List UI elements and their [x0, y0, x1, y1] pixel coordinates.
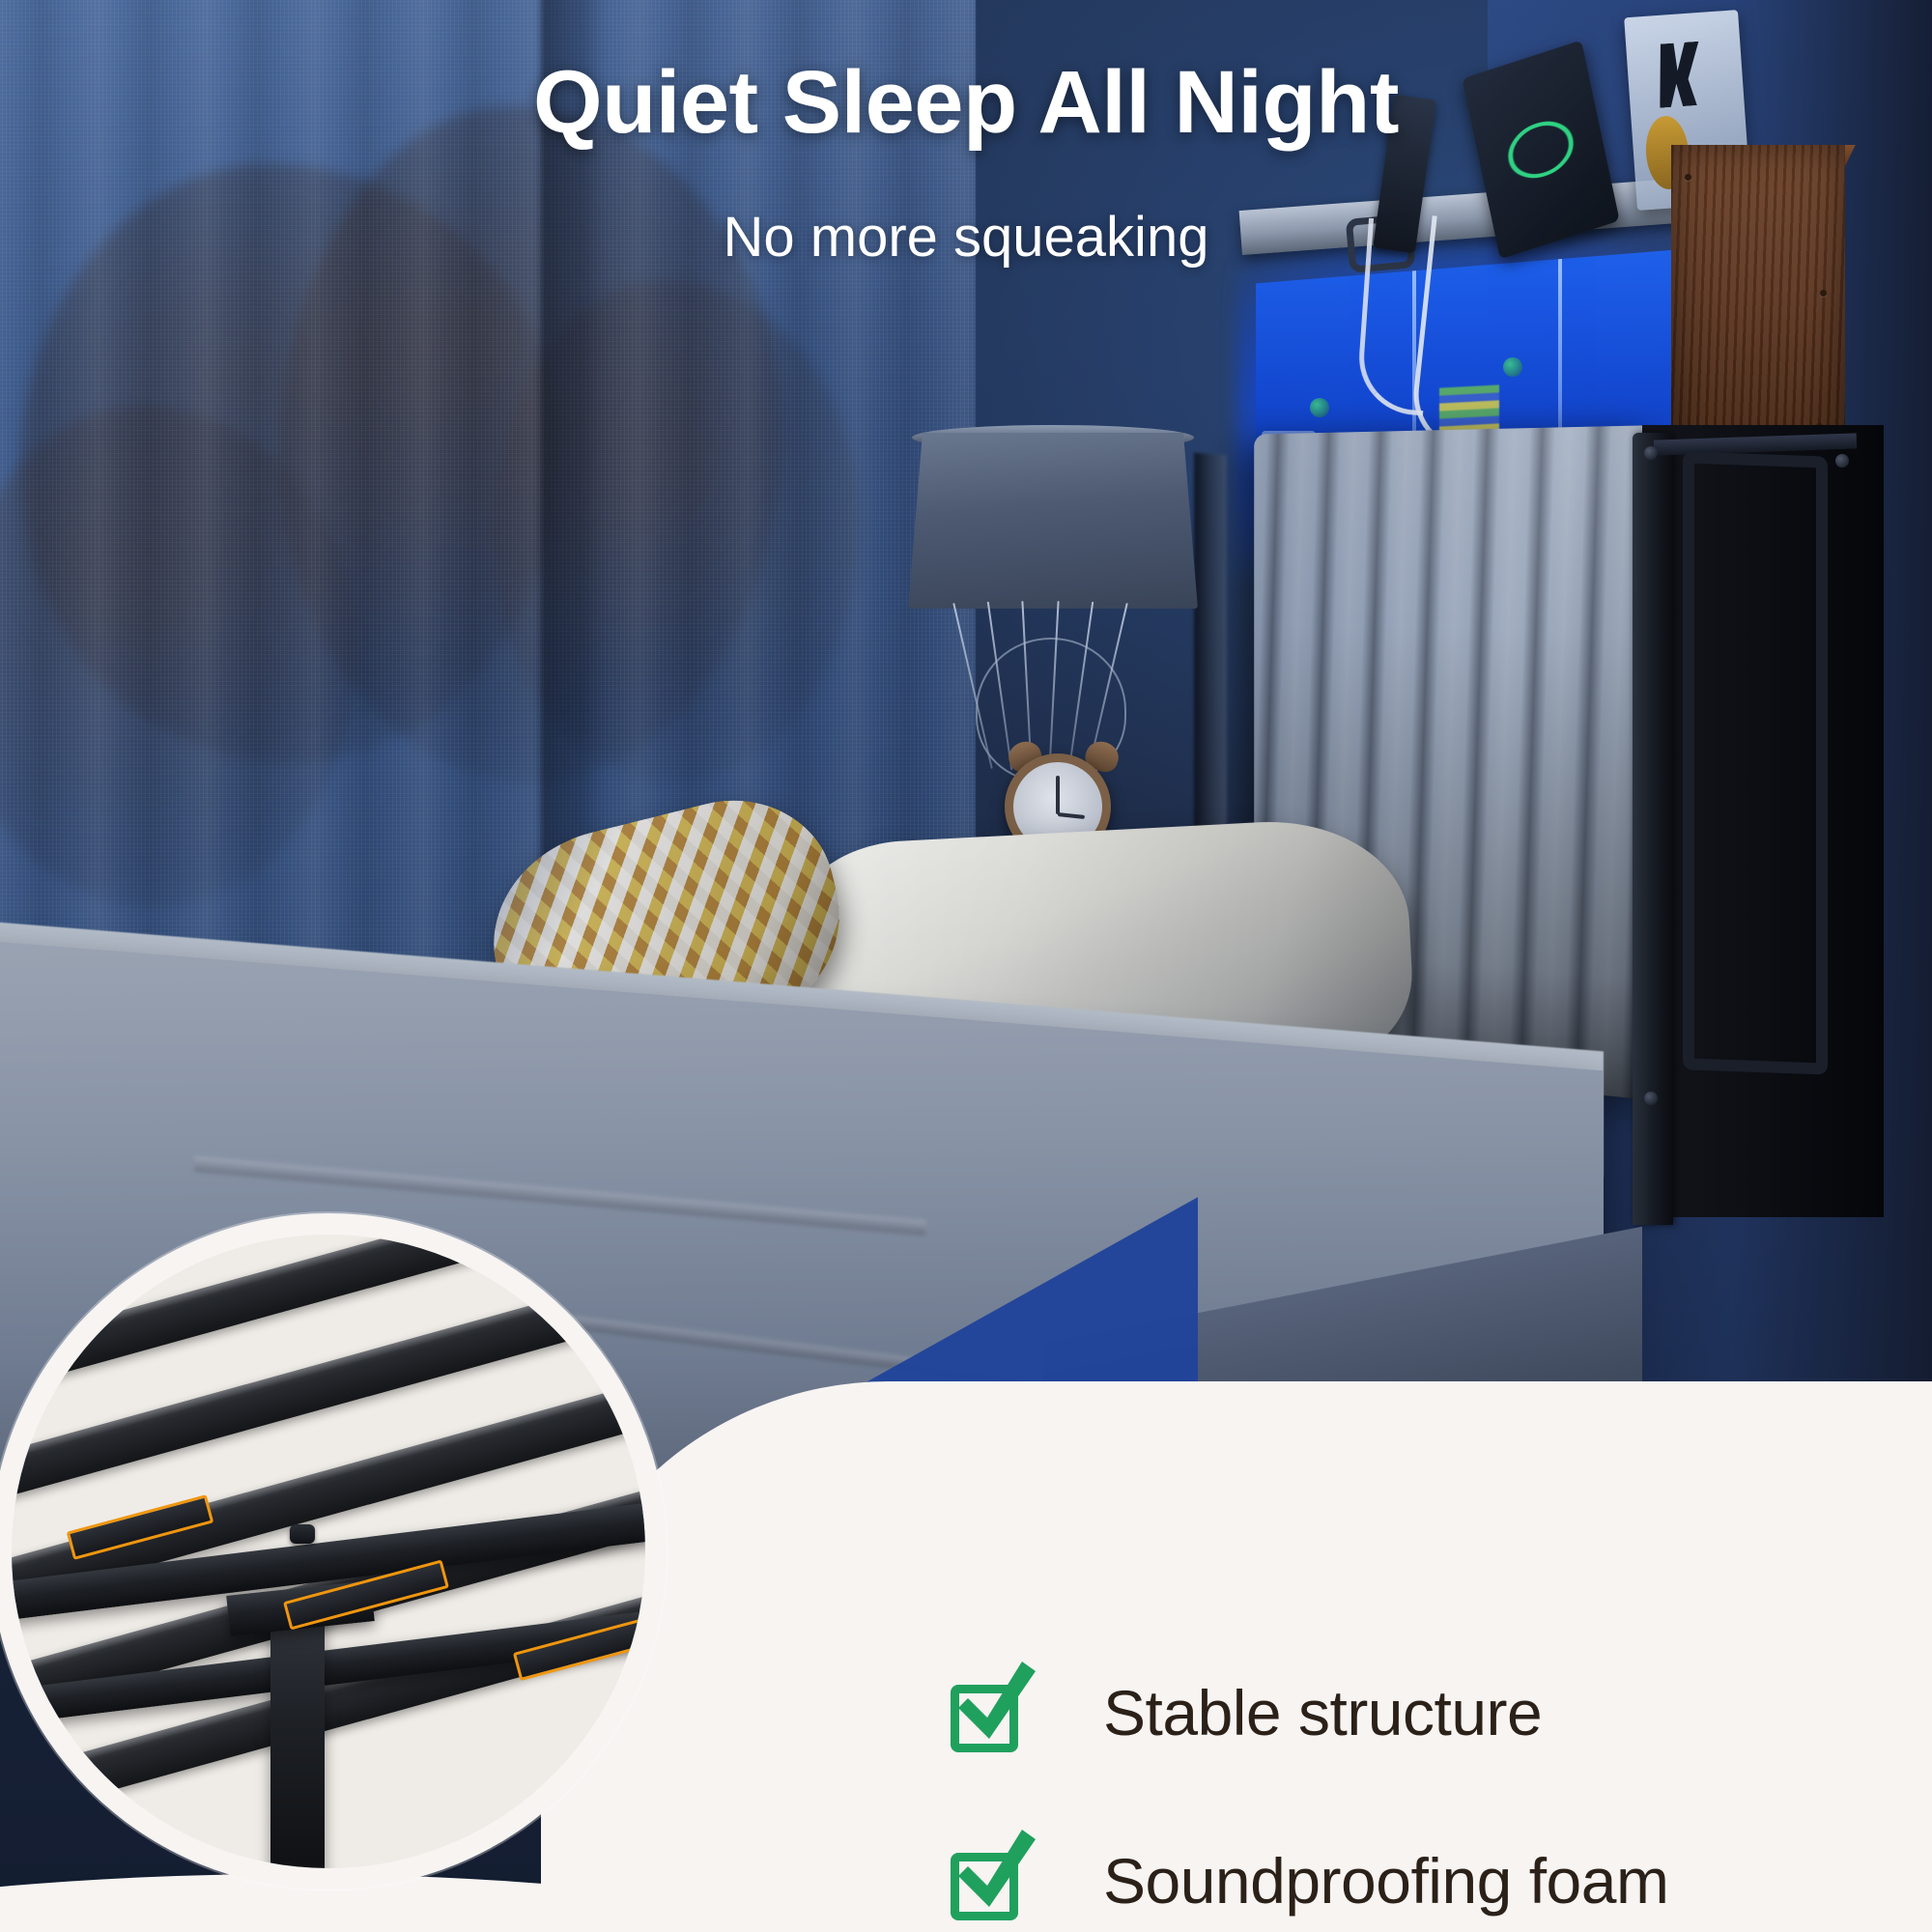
- frame-bolt: [1644, 1092, 1658, 1105]
- checkbox-checked-icon: [947, 1671, 1030, 1754]
- slat-closeup-inset: [12, 1235, 645, 1868]
- feature-list: Stable structure Soundproofing foam: [947, 1671, 1893, 1932]
- rustic-wood-post: [1671, 145, 1845, 464]
- product-marketing-image: Quiet Sleep All Night No more squeaking …: [0, 0, 1932, 1932]
- bed-frame-inner-cutout: [1683, 451, 1828, 1074]
- page-title: Quiet Sleep All Night: [0, 52, 1932, 154]
- inset-vignette: [12, 1235, 645, 1868]
- feature-label: Soundproofing foam: [1103, 1844, 1668, 1918]
- feature-item: Stable structure: [947, 1671, 1893, 1754]
- feature-label: Stable structure: [1103, 1676, 1542, 1749]
- feature-item: Soundproofing foam: [947, 1839, 1893, 1922]
- frame-bolt: [1835, 454, 1849, 468]
- checkbox-checked-icon: [947, 1839, 1030, 1922]
- page-subtitle: No more squeaking: [0, 205, 1932, 270]
- frame-bolt: [1644, 446, 1658, 460]
- bed-frame-post: [1633, 433, 1673, 1225]
- table-lamp-shade: [908, 433, 1198, 609]
